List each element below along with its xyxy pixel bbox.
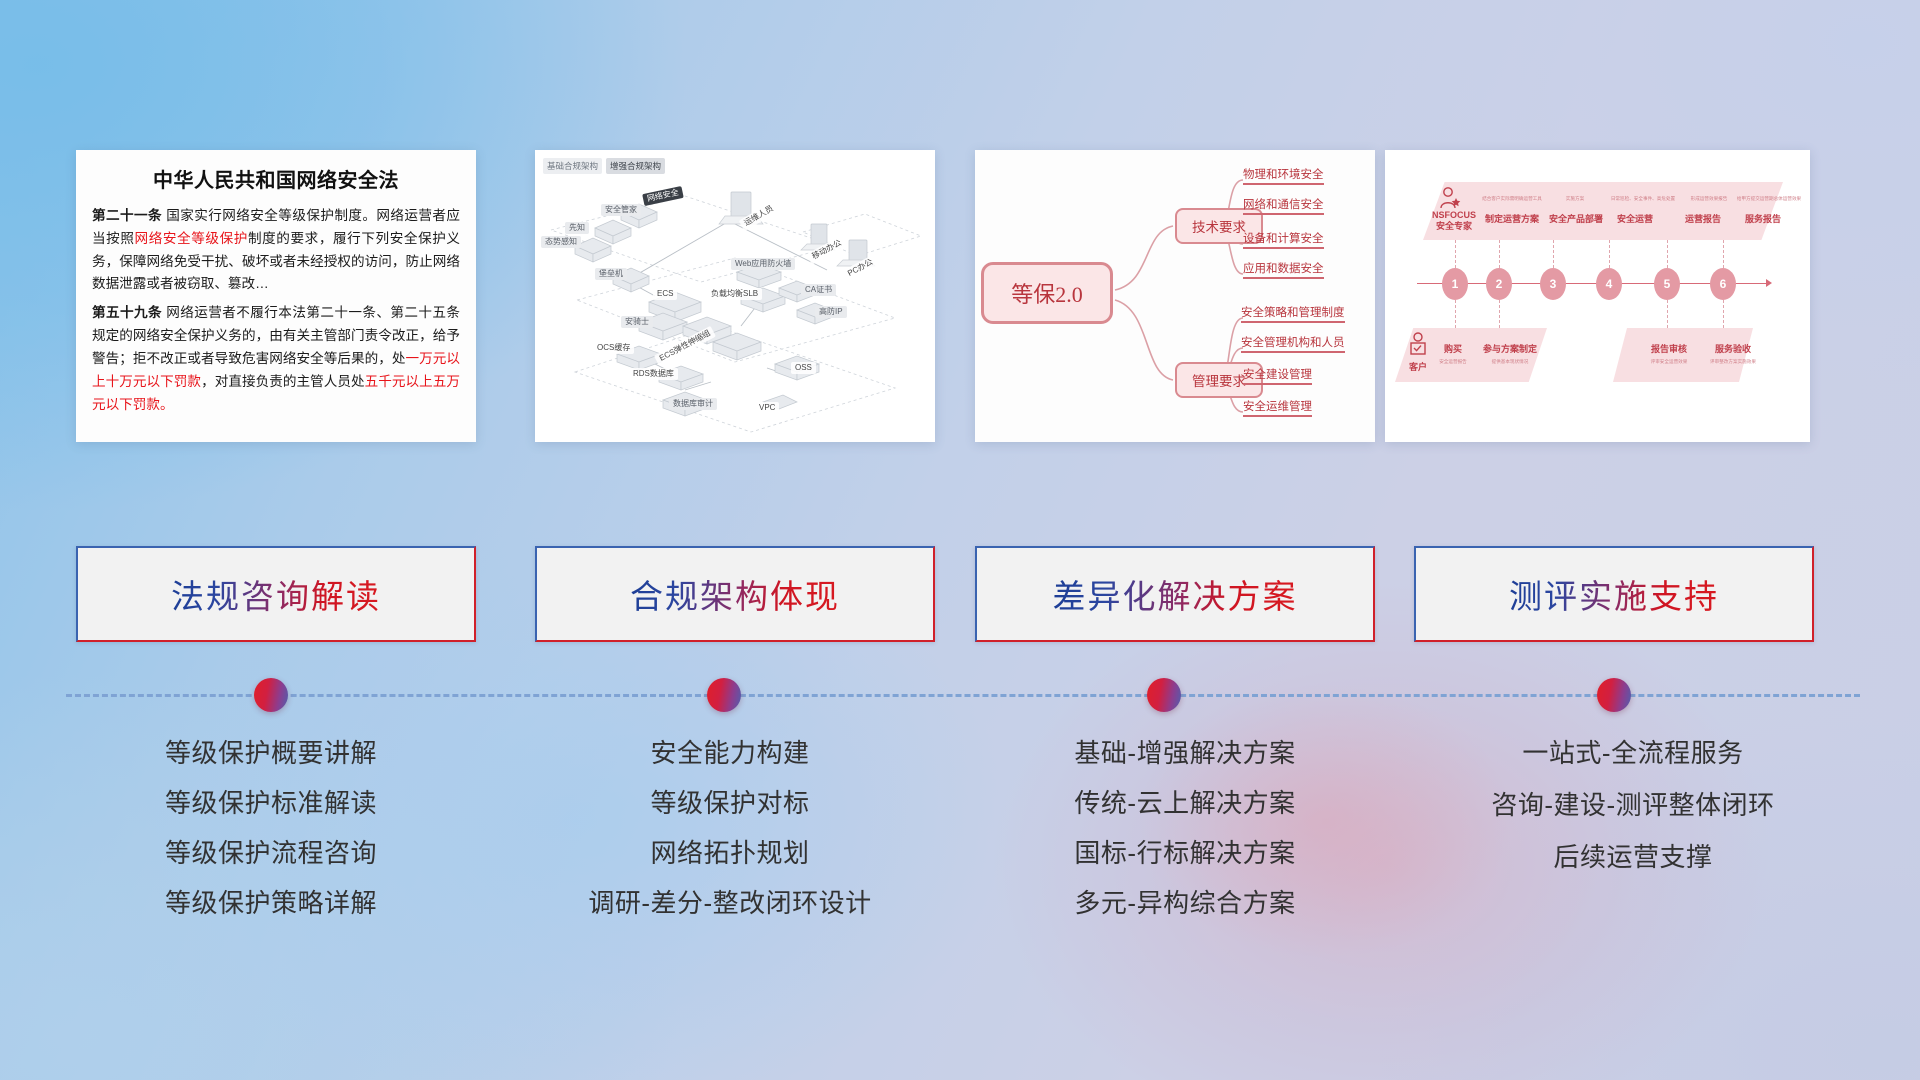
service-process-diagram: NSFOCUS 安全专家 客户 结合客户实际需明确运营工具 制定运营方案 实施方… <box>1385 150 1810 442</box>
law-body: 中华人民共和国网络安全法 第二十一条 国家实行网络安全等级保护制度。网络运营者应… <box>76 150 476 430</box>
list-item: 国标-行标解决方案 <box>950 840 1420 866</box>
law-card[interactable]: 中华人民共和国网络安全法 第二十一条 国家实行网络安全等级保护制度。网络运营者应… <box>76 150 476 442</box>
connector-step-3-up <box>1553 240 1554 268</box>
step-6-top-main: 服务报告 <box>1727 212 1799 225</box>
timeline-dot-4[interactable] <box>1597 678 1631 712</box>
connector-step-5-down <box>1667 300 1668 328</box>
step-5-bottom-sub: 评审安全运营效果 <box>1635 359 1703 365</box>
mindmap-leaf-network-comm: 网络和通信安全 <box>1243 198 1324 215</box>
list-item: 咨询-建设-测评整体闭环 <box>1408 792 1858 818</box>
connector-step-2-down <box>1499 300 1500 328</box>
connector-step-1-up <box>1455 240 1456 268</box>
headline-button-compliance-architecture[interactable]: 合规架构体现 <box>535 546 935 642</box>
arch-node-rds-database: RDS数据库 <box>629 368 678 380</box>
step-1-bottom-sub: 安全运营报告 <box>1429 359 1477 365</box>
timeline-dot-2[interactable] <box>707 678 741 712</box>
headline-label-1: 法规咨询解读 <box>171 570 381 618</box>
architecture-diagram: 基础合规架构 增强合规架构 <box>535 150 935 442</box>
feature-list-3: 基础-增强解决方案 传统-云上解决方案 国标-行标解决方案 多元-异构综合方案 <box>950 740 1420 940</box>
arch-node-anqishi: 安骑士 <box>621 316 653 328</box>
arch-node-waf: Web应用防火墙 <box>731 258 795 270</box>
list-item: 后续运营支撑 <box>1408 844 1858 870</box>
architecture-card[interactable]: 基础合规架构 增强合规架构 <box>535 150 935 442</box>
arch-node-database-audit: 数据库审计 <box>669 398 717 410</box>
expert-icon <box>1437 186 1463 210</box>
timeline-dashed-line <box>66 694 1860 697</box>
arch-node-slb: 负载均衡SLB <box>707 288 762 300</box>
connector-step-6-up <box>1723 240 1724 268</box>
customer-role-label: 客户 <box>1407 360 1429 373</box>
article-text-2c: ，对直接负责的主管人员处 <box>201 374 365 389</box>
article-number-2: 第五十九条 <box>92 305 162 320</box>
arch-node-ecs: ECS <box>653 288 677 300</box>
list-item: 等级保护流程咨询 <box>46 840 496 866</box>
article-text-1b: 网络安全等级保护 <box>135 231 248 246</box>
step-bubble-3[interactable]: 3 <box>1540 268 1566 300</box>
law-paragraph-2: 第五十九条 网络运营者不履行本法第二十一条、第二十五条规定的网络安全保护义务的，… <box>92 302 460 416</box>
feature-list-2: 安全能力构建 等级保护对标 网络拓扑规划 调研-差分-整改闭环设计 <box>495 740 965 940</box>
headline-button-differentiated-solution[interactable]: 差异化解决方案 <box>975 546 1375 642</box>
step-bubble-2[interactable]: 2 <box>1486 268 1512 300</box>
list-item: 等级保护策略详解 <box>46 890 496 916</box>
step-bubble-1[interactable]: 1 <box>1442 268 1468 300</box>
headline-label-3: 差异化解决方案 <box>1053 570 1298 618</box>
step-5-bottom-main: 报告审核 <box>1641 342 1697 355</box>
headline-label-2: 合规架构体现 <box>630 570 840 618</box>
arch-node-vpc: VPC <box>755 402 779 414</box>
timeline-dot-1[interactable] <box>254 678 288 712</box>
step-1-bottom-main: 购买 <box>1433 342 1473 355</box>
arch-node-oss: OSS <box>791 362 816 374</box>
list-item: 一站式-全流程服务 <box>1408 740 1858 766</box>
connector-step-4-up <box>1609 240 1610 268</box>
arch-node-ocs-cache: OCS缓存 <box>593 342 634 354</box>
arch-node-anti-ddos-ip: 高防IP <box>815 306 847 318</box>
mindmap-leaf-app-data: 应用和数据安全 <box>1243 262 1324 279</box>
connector-step-2-up <box>1499 240 1500 268</box>
expert-band <box>1423 182 1783 240</box>
customer-band-right <box>1613 328 1753 382</box>
mindmap-leaf-physical-env: 物理和环境安全 <box>1243 168 1324 185</box>
mindmap: 等保2.0 技术要求 管理要求 物理和环境安全 网络和通信安全 设备和计算安全 … <box>975 150 1375 442</box>
cards-row: 中华人民共和国网络安全法 第二十一条 国家实行网络安全等级保护制度。网络运营者应… <box>0 150 1920 442</box>
law-paragraph-1: 第二十一条 国家实行网络安全等级保护制度。网络运营者应当按照网络安全等级保护制度… <box>92 205 460 296</box>
headline-button-regulation-consulting[interactable]: 法规咨询解读 <box>76 546 476 642</box>
expert-role-line2: 安全专家 <box>1436 221 1472 231</box>
step-bubble-5[interactable]: 5 <box>1654 268 1680 300</box>
mindmap-leaf-policy-system: 安全策略和管理制度 <box>1241 306 1345 323</box>
step-6-top-sub: 给甲方提交运营期总体运营效果 <box>1717 196 1810 202</box>
law-title: 中华人民共和国网络安全法 <box>92 164 460 193</box>
list-item: 等级保护概要讲解 <box>46 740 496 766</box>
mindmap-leaf-construction: 安全建设管理 <box>1243 368 1312 385</box>
list-item: 多元-异构综合方案 <box>950 890 1420 916</box>
headline-button-assessment-support[interactable]: 测评实施支持 <box>1414 546 1814 642</box>
arch-node-bastion-host: 堡垒机 <box>595 268 627 280</box>
mindmap-leaf-org-personnel: 安全管理机构和人员 <box>1241 336 1345 353</box>
step-6-bottom-main: 服务验收 <box>1705 342 1761 355</box>
timeline-dot-3[interactable] <box>1147 678 1181 712</box>
arch-node-xianzhi: 先知 <box>565 222 589 234</box>
connector-step-1-down <box>1455 300 1456 328</box>
service-timeline-card[interactable]: NSFOCUS 安全专家 客户 结合客户实际需明确运营工具 制定运营方案 实施方… <box>1385 150 1810 442</box>
list-item: 等级保护标准解读 <box>46 790 496 816</box>
headline-label-4: 测评实施支持 <box>1509 570 1719 618</box>
feature-list-4: 一站式-全流程服务 咨询-建设-测评整体闭环 后续运营支撑 <box>1408 740 1858 896</box>
connector-step-6-down <box>1723 300 1724 328</box>
step-4-top-main: 安全运营 <box>1597 212 1673 225</box>
step-2-bottom-main: 参与方案制定 <box>1477 342 1543 355</box>
feature-list-1: 等级保护概要讲解 等级保护标准解读 等级保护流程咨询 等级保护策略详解 <box>46 740 496 940</box>
headline-button-row: 法规咨询解读 合规架构体现 差异化解决方案 测评实施支持 <box>0 546 1920 646</box>
mindmap-root[interactable]: 等保2.0 <box>981 262 1113 324</box>
article-number-1: 第二十一条 <box>92 208 162 223</box>
list-item: 网络拓扑规划 <box>495 840 965 866</box>
list-item: 传统-云上解决方案 <box>950 790 1420 816</box>
list-item: 安全能力构建 <box>495 740 965 766</box>
arch-node-situation-awareness: 态势感知 <box>541 236 581 248</box>
mindmap-leaf-operations: 安全运维管理 <box>1243 400 1312 417</box>
arch-node-ca-certificate: CA证书 <box>801 284 836 296</box>
step-bubble-6[interactable]: 6 <box>1710 268 1736 300</box>
mindmap-leaf-device-compute: 设备和计算安全 <box>1243 232 1324 249</box>
step-bubble-4[interactable]: 4 <box>1596 268 1622 300</box>
list-item: 调研-差分-整改闭环设计 <box>495 890 965 916</box>
list-item: 等级保护对标 <box>495 790 965 816</box>
customer-icon <box>1407 332 1429 358</box>
mindmap-card[interactable]: 等保2.0 技术要求 管理要求 物理和环境安全 网络和通信安全 设备和计算安全 … <box>975 150 1375 442</box>
step-2-bottom-sub: 提供基本现状情况 <box>1475 359 1545 365</box>
arch-node-security-butler: 安全管家 <box>601 204 641 216</box>
list-item: 基础-增强解决方案 <box>950 740 1420 766</box>
process-arrow-icon <box>1766 279 1772 287</box>
step-6-bottom-sub: 评审整改方案实施效果 <box>1695 359 1771 365</box>
connector-step-5-up <box>1667 240 1668 268</box>
